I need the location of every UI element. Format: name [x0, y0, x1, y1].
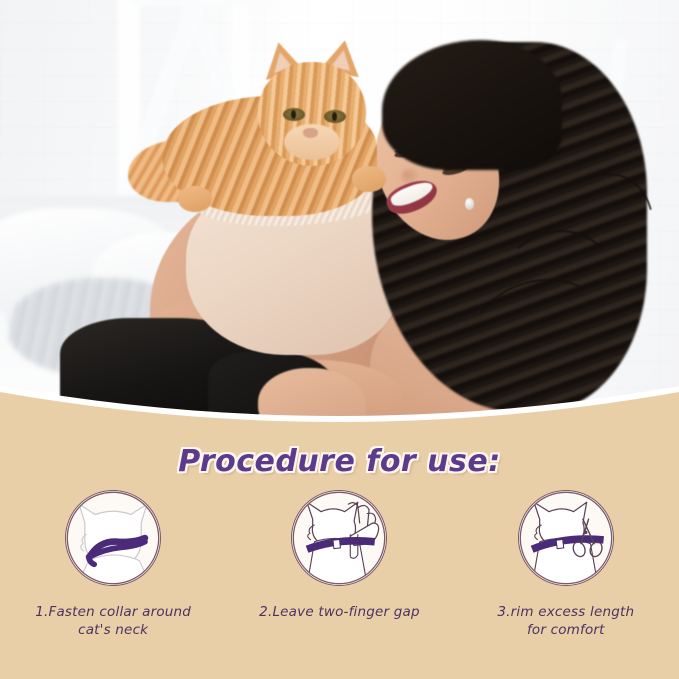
procedure-section: Procedure for use:	[0, 430, 679, 679]
section-title: Procedure for use:	[0, 444, 679, 479]
step-item-3: 3.rim excess length for comfort	[461, 490, 671, 639]
step-caption-2: 2.Leave two-finger gap	[259, 603, 420, 621]
window-frame-top-rail	[130, 0, 270, 6]
steps-list: 1.Fasten collar around cat's neck	[0, 490, 679, 639]
cat-nose	[303, 128, 318, 138]
cat-paw-front	[352, 166, 386, 192]
cat-eye-left	[283, 108, 305, 121]
cat-head-two-finger-gap-icon	[291, 490, 387, 586]
cat-eye-right	[324, 110, 346, 123]
cat-paw-rear	[178, 186, 212, 212]
step-item-2: 2.Leave two-finger gap	[234, 490, 444, 621]
step-item-1: 1.Fasten collar around cat's neck	[8, 490, 218, 639]
step-caption-1: 1.Fasten collar around cat's neck	[35, 603, 191, 639]
product-infographic: Procedure for use:	[0, 0, 679, 679]
step-caption-3: 3.rim excess length for comfort	[497, 603, 634, 639]
woman-earring	[465, 198, 474, 210]
cat-head-collar-fasten-icon	[65, 490, 161, 586]
cat-head-scissors-trim-icon	[518, 490, 614, 586]
